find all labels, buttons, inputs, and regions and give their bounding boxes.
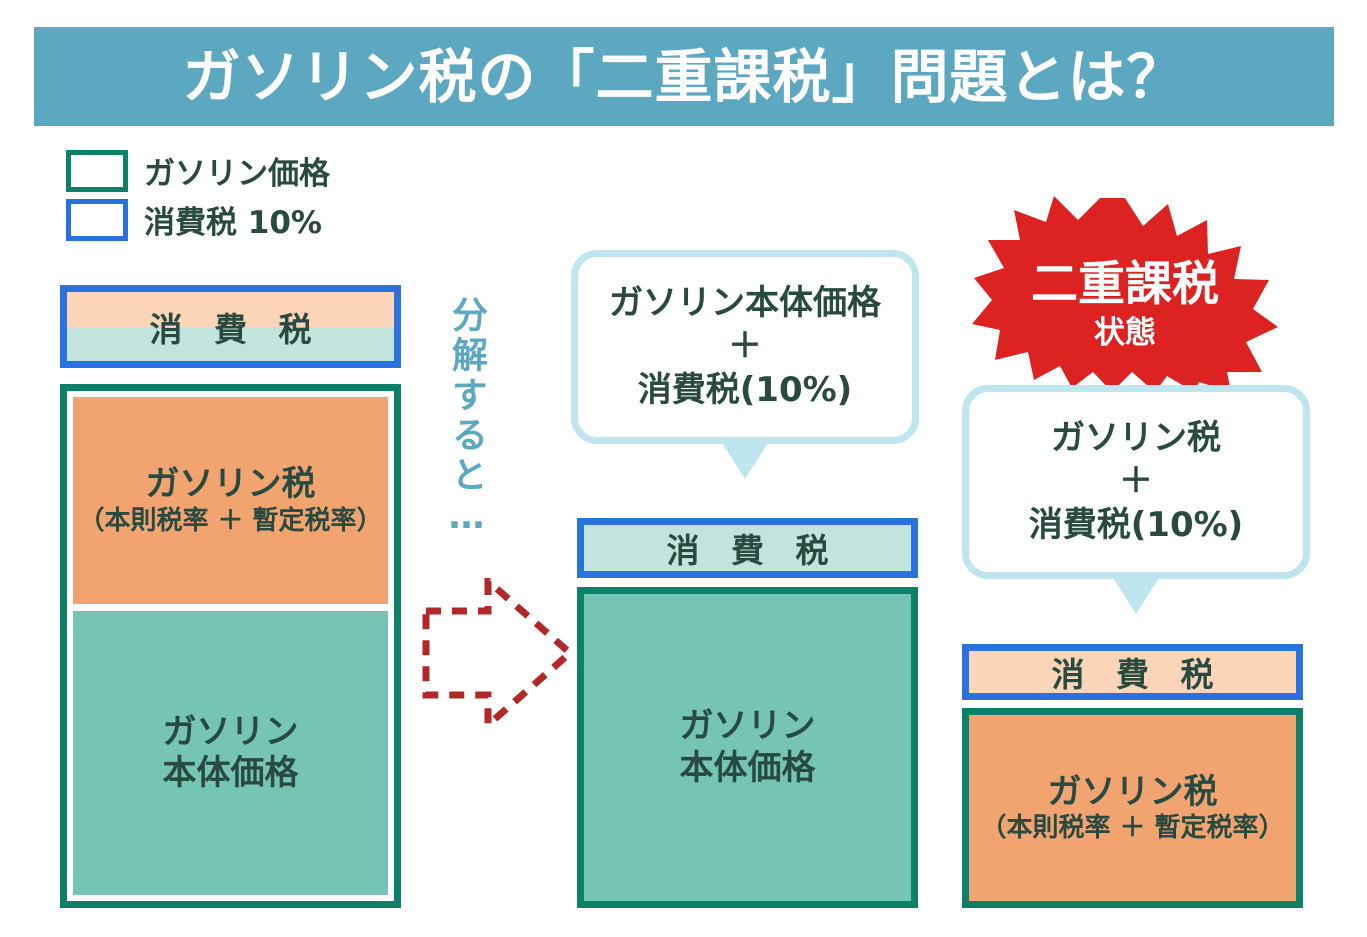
left-gasoline-tax-segment: ガソリン税 （本則税率 ＋ 暫定税率） <box>73 397 388 604</box>
middle-consumption-tax-box: 消 費 税 <box>577 518 918 578</box>
right-bubble-line2: ＋ <box>1119 460 1153 504</box>
badge-sub-text: 状態 <box>1094 315 1156 351</box>
legend-item-consumption-tax: 消費税 10% <box>66 195 406 244</box>
middle-gasoline-body-box: ガソリン 本体価格 <box>577 587 918 908</box>
badge-main-text: 二重課税 <box>1031 257 1219 312</box>
right-consumption-tax-box: 消 費 税 <box>962 644 1303 700</box>
right-gasoline-tax-sublabel: （本則税率 ＋ 暫定税率） <box>980 813 1284 844</box>
middle-gasoline-body-label-line1: ガソリン <box>680 706 816 747</box>
middle-bubble-tail-icon <box>722 443 768 479</box>
title-bar: ガソリン税の「二重課税」問題とは？ <box>34 27 1334 126</box>
legend-label-gasoline-price: ガソリン価格 <box>144 148 330 193</box>
right-bubble-line3: 消費税(10%) <box>1029 504 1243 548</box>
legend: ガソリン価格 消費税 10% <box>66 146 406 244</box>
left-gasoline-price-box: ガソリン税 （本則税率 ＋ 暫定税率） ガソリン 本体価格 <box>60 384 401 908</box>
right-consumption-tax-label: 消 費 税 <box>1042 648 1224 696</box>
decompose-note-text: 分解すると… <box>432 296 484 541</box>
infographic-canvas: ガソリン税の「二重課税」問題とは？ ガソリン価格 消費税 10% 消 費 税 ガ… <box>0 0 1367 937</box>
right-bubble-line1: ガソリン税 <box>1051 417 1221 461</box>
right-bubble-tail-icon <box>1113 578 1159 614</box>
middle-bubble-line3: 消費税(10%) <box>638 369 852 413</box>
left-gasoline-body-label-line1: ガソリン <box>163 712 299 753</box>
legend-swatch-green-icon <box>66 150 128 192</box>
legend-label-consumption-tax: 消費税 10% <box>144 197 322 242</box>
left-gasoline-tax-sublabel: （本則税率 ＋ 暫定税率） <box>78 506 382 537</box>
right-bubble: ガソリン税 ＋ 消費税(10%) <box>962 385 1310 579</box>
right-gasoline-tax-box: ガソリン税 （本則税率 ＋ 暫定税率） <box>962 708 1303 908</box>
left-consumption-tax-box: 消 費 税 <box>60 285 401 368</box>
right-gasoline-tax-label: ガソリン税 <box>1048 772 1218 813</box>
legend-item-gasoline-price: ガソリン価格 <box>66 146 406 195</box>
middle-bubble-line2: ＋ <box>728 325 762 369</box>
legend-swatch-blue-icon <box>66 199 128 241</box>
left-gasoline-tax-label: ガソリン税 <box>146 464 316 505</box>
middle-bubble-line1: ガソリン本体価格 <box>609 282 881 326</box>
left-gasoline-body-label-line2: 本体価格 <box>163 753 299 794</box>
left-segment-divider <box>73 604 388 611</box>
middle-bubble: ガソリン本体価格 ＋ 消費税(10%) <box>571 250 919 444</box>
left-gasoline-price-stack: ガソリン税 （本則税率 ＋ 暫定税率） ガソリン 本体価格 <box>73 397 388 895</box>
dashed-right-arrow-icon <box>418 578 578 728</box>
left-gasoline-body-segment: ガソリン 本体価格 <box>73 611 388 895</box>
page-title: ガソリン税の「二重課税」問題とは？ <box>182 48 1185 106</box>
left-consumption-tax-label: 消 費 税 <box>140 303 322 351</box>
middle-consumption-tax-label: 消 費 税 <box>657 524 839 572</box>
double-tax-status-badge: 二重課税 状態 <box>972 196 1278 392</box>
middle-gasoline-body-label-line2: 本体価格 <box>680 748 816 789</box>
